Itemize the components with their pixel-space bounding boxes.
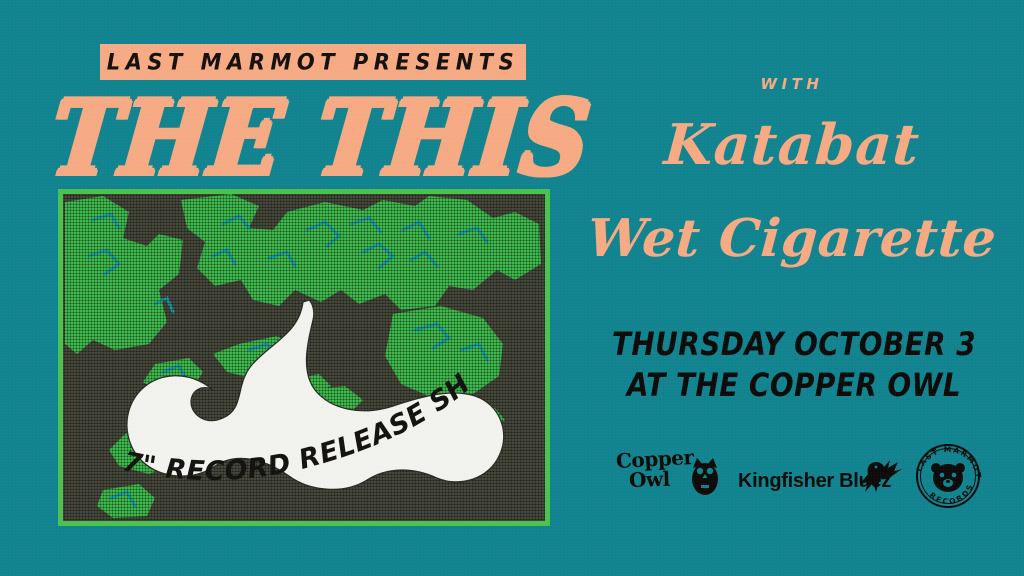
presents-banner: LAST MARMOT PRESENTS	[100, 44, 526, 80]
record-release-ribbon: 7" RECORD RELEASE SHOW	[63, 194, 545, 521]
copper-owl-line-2: Owl	[629, 468, 694, 490]
logo-last-marmot-records[interactable]: LAST MARMOT RECORDS	[912, 440, 984, 512]
logo-copper-owl[interactable]: Copper Owl	[616, 446, 720, 506]
with-label: WITH	[592, 75, 992, 93]
owl-icon	[690, 454, 720, 496]
sponsor-logos: Copper Owl Kingfisher Bluez	[600, 440, 1000, 512]
concert-poster: LAST MARMOT PRESENTS THE THIS	[0, 0, 1024, 576]
marmot-face-icon: LAST MARMOT RECORDS	[912, 440, 984, 512]
artwork-panel: 7" RECORD RELEASE SHOW	[58, 189, 550, 526]
support-act-1: Katabat	[578, 112, 1007, 178]
kingfisher-bird-icon	[856, 452, 904, 496]
copper-owl-wordmark: Copper Owl	[616, 450, 694, 489]
support-act-2: Wet Cigarette	[578, 208, 1006, 269]
show-details: THURSDAY OCTOBER 3 AT THE COPPER OWL	[606, 325, 982, 408]
show-date: THURSDAY OCTOBER 3	[606, 325, 982, 366]
presents-label: LAST MARMOT PRESENTS	[107, 49, 520, 74]
logo-kingfisher-bluez[interactable]: Kingfisher Bluez	[738, 458, 903, 502]
show-venue: AT THE COPPER OWL	[606, 366, 982, 407]
headliner-title: THE THIS	[47, 86, 578, 189]
ribbon-shape: 7" RECORD RELEASE SHOW	[63, 194, 545, 521]
artwork-inner: 7" RECORD RELEASE SHOW	[63, 194, 545, 521]
